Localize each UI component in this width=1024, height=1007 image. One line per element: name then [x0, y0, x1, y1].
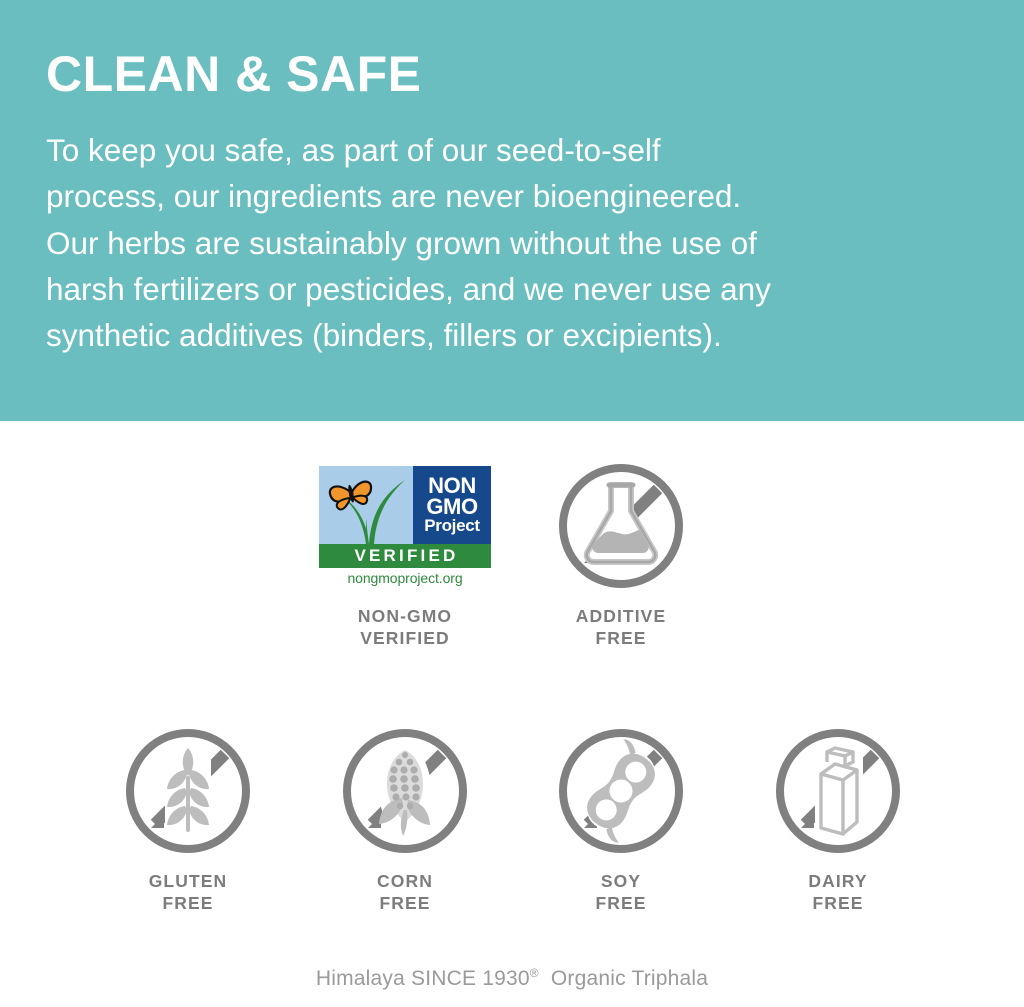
badge-dairy-free: DAIRY FREE: [738, 716, 938, 915]
non-gmo-project-wordmark: NON GMO Project: [413, 466, 491, 544]
non-label: NON: [428, 475, 476, 496]
verified-label: VERIFIED: [319, 544, 491, 568]
product-name: Organic Triphala: [551, 967, 708, 990]
no-soy-icon: [521, 716, 721, 866]
badge-caption: DAIRY FREE: [738, 870, 938, 915]
badge-caption-line: GLUTEN: [88, 870, 288, 892]
brand-name: Himalaya SINCE 1930: [316, 967, 530, 990]
footer-product-line: Himalaya SINCE 1930® Organic Triphala: [0, 966, 1024, 991]
badge-caption-line: FREE: [305, 892, 505, 914]
badge-caption-line: ADDITIVE: [521, 605, 721, 627]
badge-caption: ADDITIVE FREE: [521, 605, 721, 650]
badge-additive-free: ADDITIVE FREE: [521, 451, 721, 650]
badge-caption: GLUTEN FREE: [88, 870, 288, 915]
hero-description-line: synthetic additives (binders, fillers or…: [46, 312, 976, 358]
no-corn-icon: [305, 716, 505, 866]
badge-caption-line: FREE: [738, 892, 938, 914]
non-gmo-verified-seal-icon: NON GMO Project VERIFIED nongmoproject.o…: [305, 451, 505, 601]
hero-description-line: harsh fertilizers or pesticides, and we …: [46, 266, 976, 312]
hero-description-line: Our herbs are sustainably grown without …: [46, 220, 976, 266]
gmo-label: GMO: [426, 496, 477, 517]
badge-corn-free: CORN FREE: [305, 716, 505, 915]
butterfly-grass-illustration: [319, 466, 413, 544]
badge-soy-free: SOY FREE: [521, 716, 721, 915]
certification-badges: NON GMO Project VERIFIED nongmoproject.o…: [0, 421, 1024, 1007]
badge-caption-line: CORN: [305, 870, 505, 892]
project-label: Project: [424, 518, 480, 534]
no-dairy-icon: [738, 716, 938, 866]
badge-caption-line: FREE: [521, 627, 721, 649]
badge-gluten-free: GLUTEN FREE: [88, 716, 288, 915]
page-title: CLEAN & SAFE: [46, 48, 978, 101]
badge-caption-line: DAIRY: [738, 870, 938, 892]
badge-caption-line: FREE: [88, 892, 288, 914]
hero-banner: CLEAN & SAFE To keep you safe, as part o…: [0, 0, 1024, 421]
badge-caption-line: NON-GMO: [305, 605, 505, 627]
hero-description: To keep you safe, as part of our seed-to…: [46, 127, 976, 358]
no-wheat-icon: [88, 716, 288, 866]
badge-non-gmo-verified: NON GMO Project VERIFIED nongmoproject.o…: [305, 451, 505, 650]
hero-description-line: process, our ingredients are never bioen…: [46, 173, 976, 219]
non-gmo-project-url: nongmoproject.org: [319, 570, 491, 586]
hero-description-line: To keep you safe, as part of our seed-to…: [46, 127, 976, 173]
badge-caption-line: VERIFIED: [305, 627, 505, 649]
badge-caption: CORN FREE: [305, 870, 505, 915]
badge-caption-line: SOY: [521, 870, 721, 892]
badge-caption: NON-GMO VERIFIED: [305, 605, 505, 650]
registered-trademark-icon: ®: [530, 966, 539, 980]
badge-caption: SOY FREE: [521, 870, 721, 915]
no-flask-icon: [521, 451, 721, 601]
badge-caption-line: FREE: [521, 892, 721, 914]
